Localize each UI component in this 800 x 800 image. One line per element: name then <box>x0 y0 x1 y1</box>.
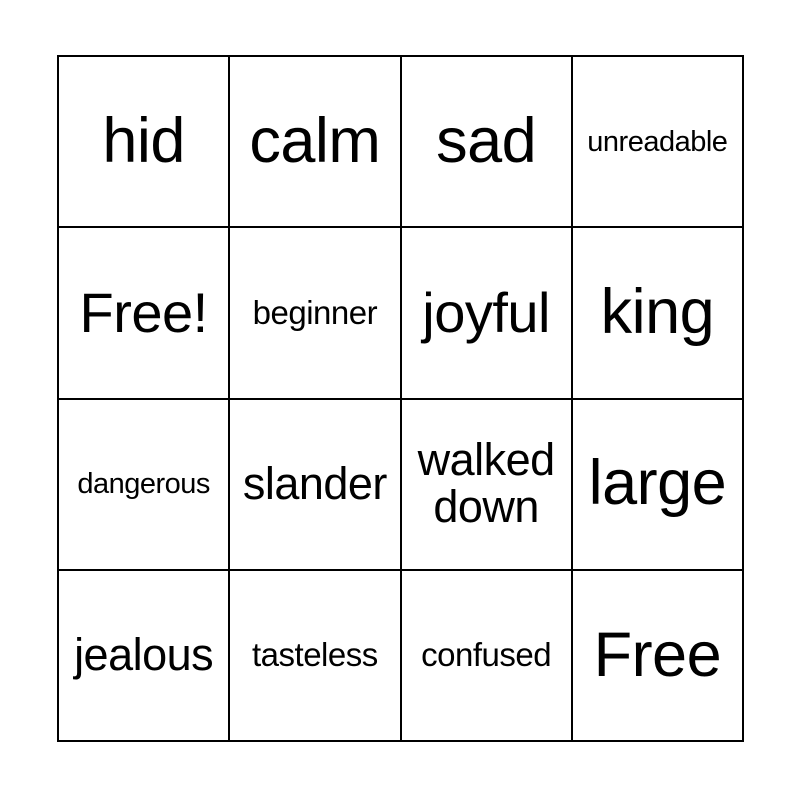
bingo-cell-label: hid <box>63 109 224 175</box>
bingo-cell-label: jealous <box>63 632 224 679</box>
bingo-cell[interactable]: slander <box>230 400 401 571</box>
bingo-cell[interactable]: dangerous <box>59 400 230 571</box>
bingo-cell[interactable]: Free <box>573 571 744 742</box>
bingo-cell[interactable]: hid <box>59 57 230 228</box>
bingo-cell[interactable]: confused <box>402 571 573 742</box>
bingo-cell-label: joyful <box>406 284 567 342</box>
bingo-cell-label: walked down <box>406 437 567 531</box>
bingo-card-grid: hidcalmsadunreadableFree!beginnerjoyfulk… <box>57 55 744 742</box>
bingo-cell[interactable]: walked down <box>402 400 573 571</box>
bingo-cell[interactable]: sad <box>402 57 573 228</box>
bingo-cell-label: calm <box>234 109 395 175</box>
bingo-cell-label: large <box>577 451 738 517</box>
bingo-cell-label: king <box>577 280 738 346</box>
free-space-label: Free! <box>63 284 224 342</box>
bingo-cell[interactable]: joyful <box>402 228 573 399</box>
free-space-label: Free <box>577 623 738 689</box>
bingo-cell-label: sad <box>406 109 567 175</box>
bingo-cell-label: confused <box>406 638 567 672</box>
bingo-cell[interactable]: tasteless <box>230 571 401 742</box>
bingo-cell-label: beginner <box>234 296 395 330</box>
bingo-cell-label: unreadable <box>577 127 738 157</box>
bingo-cell[interactable]: jealous <box>59 571 230 742</box>
bingo-cell-label: dangerous <box>63 469 224 499</box>
bingo-cell-label: tasteless <box>234 638 395 672</box>
bingo-cell[interactable]: unreadable <box>573 57 744 228</box>
bingo-cell[interactable]: beginner <box>230 228 401 399</box>
bingo-cell[interactable]: king <box>573 228 744 399</box>
bingo-cell[interactable]: large <box>573 400 744 571</box>
bingo-cell[interactable]: Free! <box>59 228 230 399</box>
bingo-cell-label: slander <box>234 461 395 508</box>
bingo-cell[interactable]: calm <box>230 57 401 228</box>
